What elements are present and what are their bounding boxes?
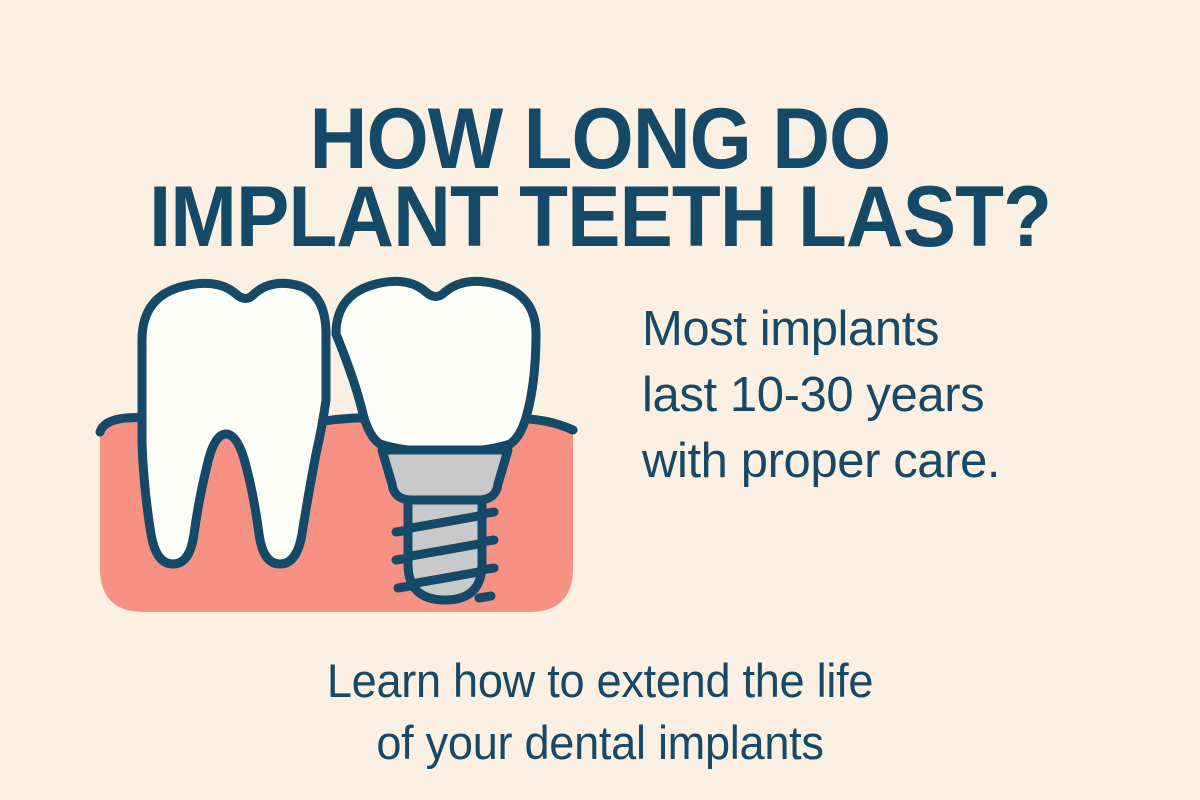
headline-line-2: IMPLANT TEETH LAST? [42,178,1158,256]
headline-line-1: HOW LONG DO [42,100,1158,178]
implant-crown [336,281,536,452]
infographic-poster: HOW LONG DO IMPLANT TEETH LAST? [0,0,1200,800]
statement-line-2: last 10-30 years [642,362,1112,428]
call-to-action: Learn how to extend the life of your den… [24,650,1176,774]
statement-line-3: with proper care. [642,428,1112,494]
statement-line-1: Most implants [642,296,1112,362]
implant-abutment [382,450,508,500]
dental-implant-illustration [86,268,586,628]
cta-line-2: of your dental implants [24,712,1176,774]
page-title: HOW LONG DO IMPLANT TEETH LAST? [42,100,1158,256]
lifespan-statement: Most implants last 10-30 years with prop… [642,296,1112,494]
cta-line-1: Learn how to extend the life [24,650,1176,712]
